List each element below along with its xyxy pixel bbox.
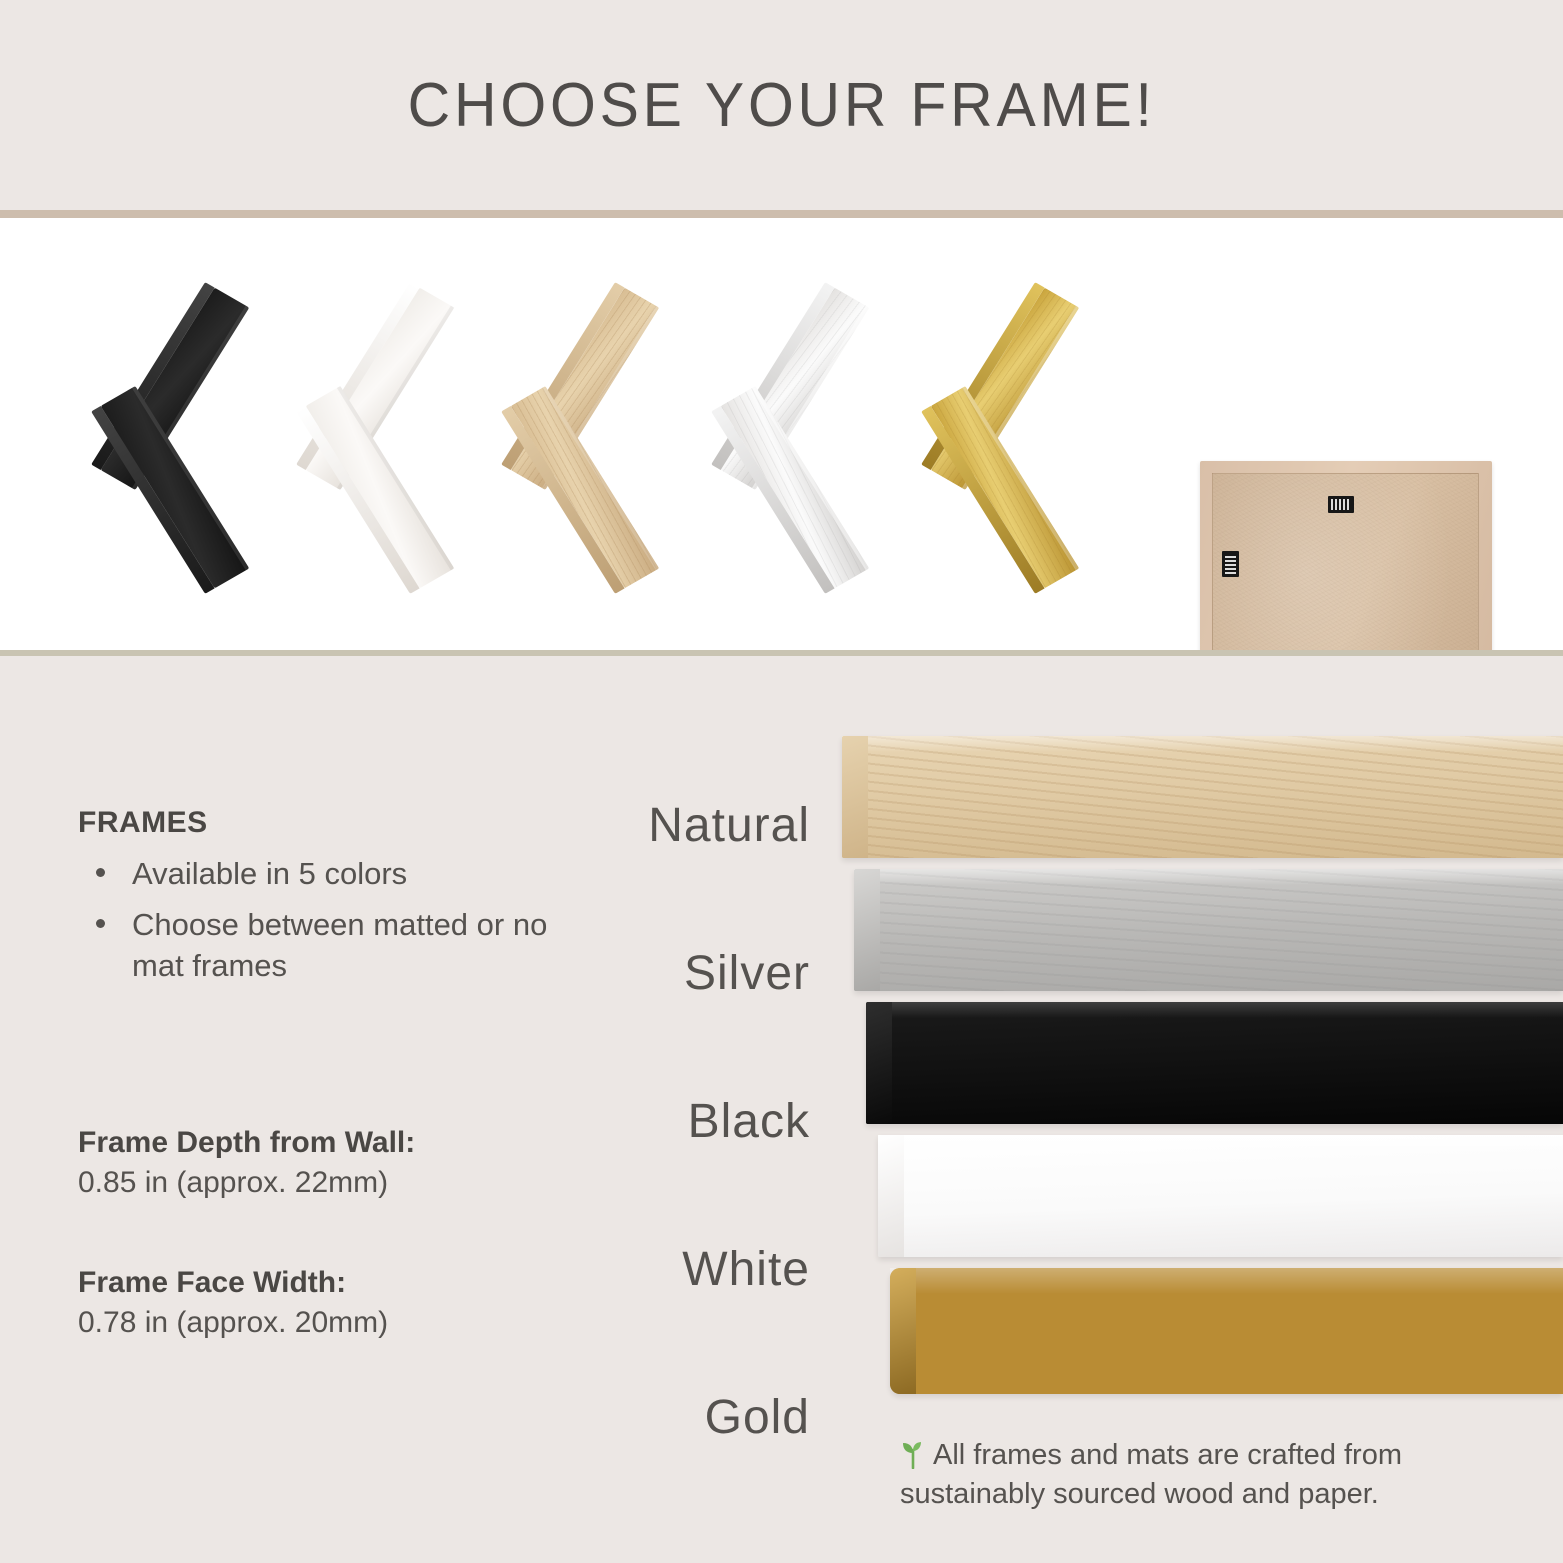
color-label-column: Natural Silver Black White Gold <box>560 751 810 1491</box>
bar-end-cap <box>878 1135 904 1257</box>
bar-end-cap <box>842 736 868 858</box>
moulding-bar-stack <box>820 736 1563 1436</box>
spec-frame-face-width: Frame Face Width: 0.78 in (approx. 20mm) <box>78 1266 598 1340</box>
frames-bullet-list: Available in 5 colors Choose between mat… <box>78 854 598 987</box>
list-item: Available in 5 colors <box>78 854 598 895</box>
bar-end-cap <box>854 869 880 991</box>
bullet-dot-icon <box>96 868 105 877</box>
divider-top <box>0 210 1563 218</box>
moulding-bar-white[interactable] <box>878 1135 1563 1257</box>
spec-value: 0.85 in (approx. 22mm) <box>78 1166 598 1200</box>
bullet-dot-icon <box>96 919 105 928</box>
sustainability-text: All frames and mats are crafted from sus… <box>900 1439 1402 1510</box>
sawtooth-hanger-icon <box>1222 551 1239 577</box>
color-label-white: White <box>560 1195 810 1343</box>
bar-end-cap <box>866 1002 892 1124</box>
details-section: FRAMES Available in 5 colors Choose betw… <box>0 656 1563 1563</box>
spec-label: Frame Depth from Wall: <box>78 1126 598 1160</box>
color-label-natural: Natural <box>560 751 810 899</box>
frames-info-block: FRAMES Available in 5 colors Choose betw… <box>78 806 598 997</box>
header-banner: CHOOSE YOUR FRAME! <box>0 0 1563 210</box>
moulding-bar-black[interactable] <box>866 1002 1563 1124</box>
bar-end-cap <box>890 1268 916 1394</box>
frame-back-view[interactable] <box>1200 461 1492 653</box>
bullet-text: Available in 5 colors <box>132 856 407 891</box>
frame-samples-strip <box>0 218 1563 653</box>
spec-frame-depth: Frame Depth from Wall: 0.85 in (approx. … <box>78 1126 598 1200</box>
color-label-gold: Gold <box>560 1343 810 1491</box>
color-label-black: Black <box>560 1047 810 1195</box>
page-title: CHOOSE YOUR FRAME! <box>407 70 1155 141</box>
moulding-bar-gold[interactable] <box>890 1268 1563 1394</box>
sprout-icon <box>900 1439 926 1469</box>
color-label-silver: Silver <box>560 899 810 1047</box>
frames-heading: FRAMES <box>78 806 598 840</box>
sawtooth-hanger-icon <box>1328 496 1354 513</box>
spec-label: Frame Face Width: <box>78 1266 598 1300</box>
spec-value: 0.78 in (approx. 20mm) <box>78 1306 598 1340</box>
moulding-bar-natural[interactable] <box>842 736 1563 858</box>
sustainability-note: All frames and mats are crafted from sus… <box>900 1436 1540 1513</box>
list-item: Choose between matted or no mat frames <box>78 905 598 987</box>
bullet-text: Choose between matted or no mat frames <box>132 907 547 983</box>
moulding-bar-silver[interactable] <box>854 869 1563 991</box>
gold-frame-corner[interactable] <box>840 273 1090 603</box>
